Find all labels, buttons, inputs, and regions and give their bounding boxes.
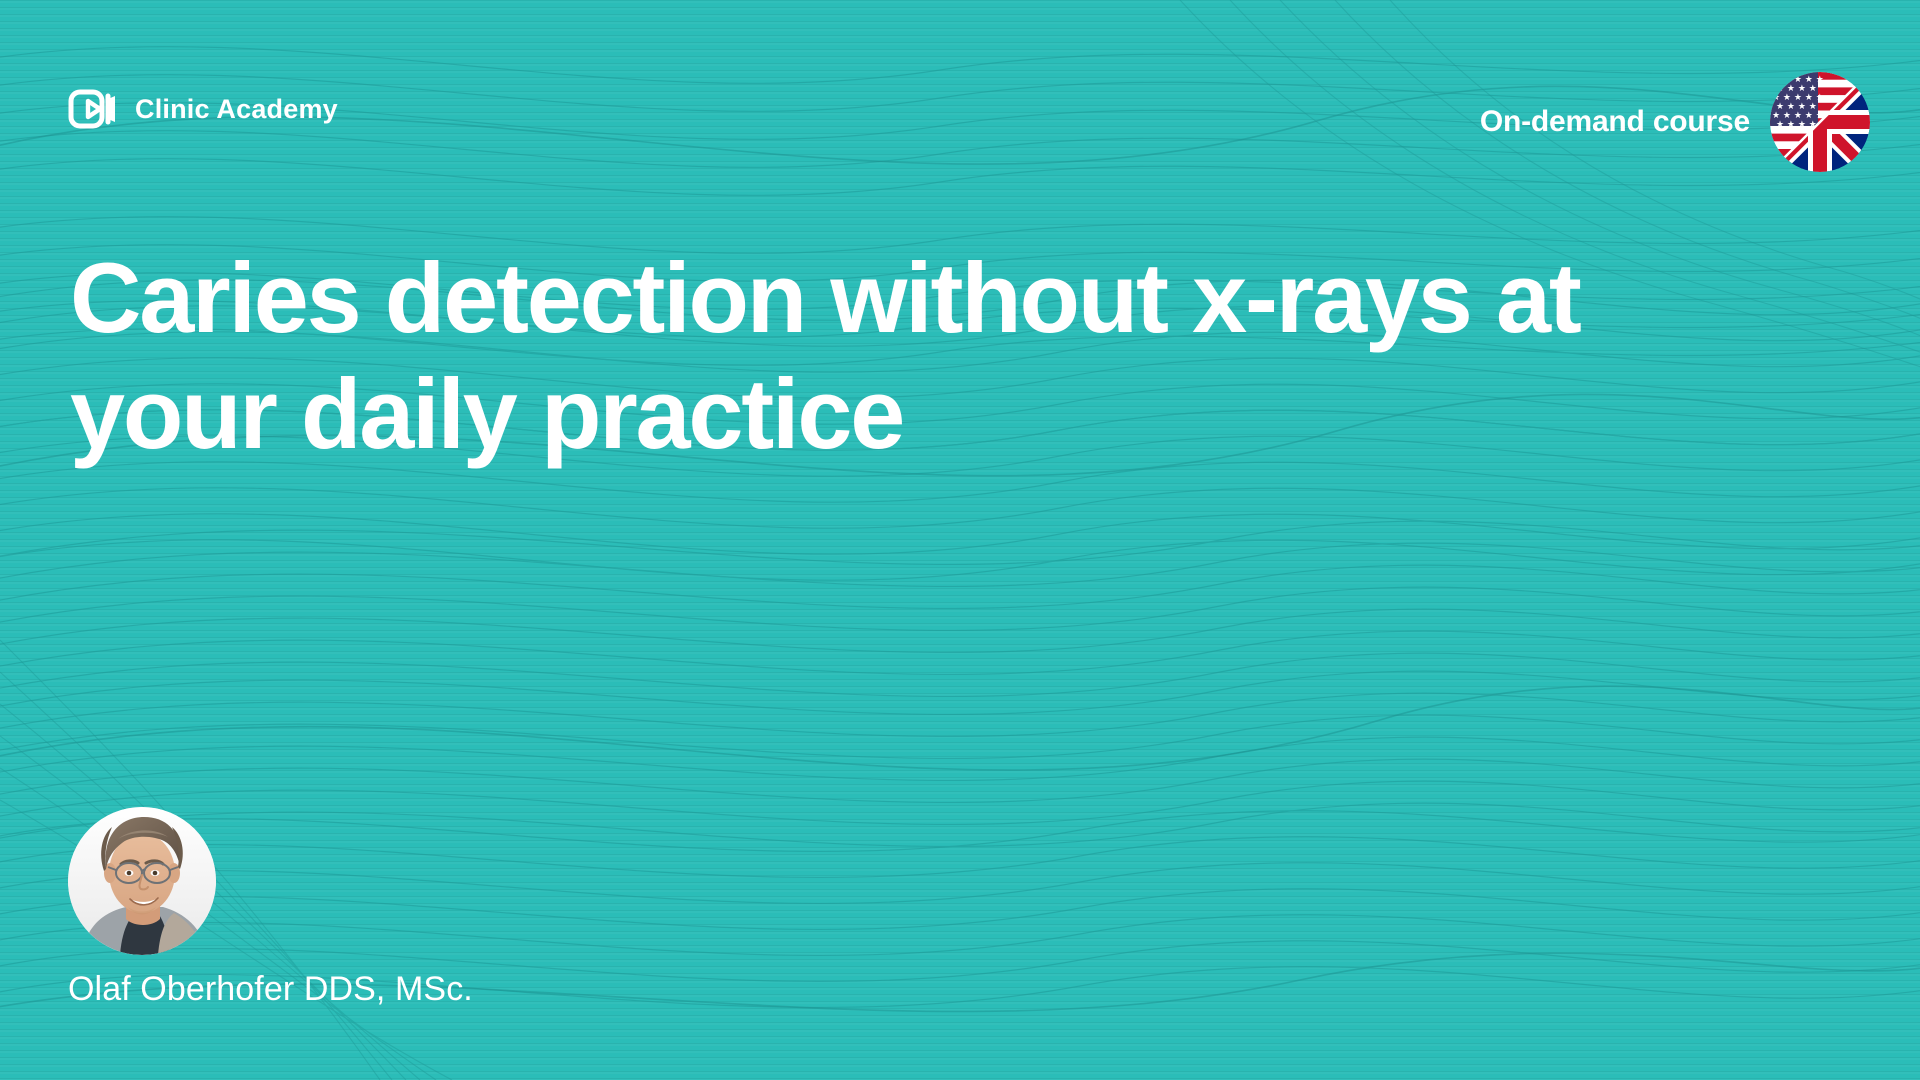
header-right-group: On-demand course [1480,72,1870,172]
brand-logo[interactable]: Clinic Academy [68,88,338,130]
brand-name-label: Clinic Academy [135,96,338,123]
us-uk-flag-badge-icon: ★ ★ ★ ★ ★ ★ ★ ★ ★ ★ ★ ★ ★ ★ ★ ★ ★ ★ ★ ★ … [1770,72,1870,172]
presenter-name-label: Olaf Oberhofer DDS, MSc. [68,971,828,1008]
course-type-label: On-demand course [1480,107,1750,137]
presenter-avatar [68,807,216,955]
svg-text:★ ★ ★ ★: ★ ★ ★ ★ [1776,120,1817,130]
video-camera-icon [68,88,118,130]
presenter-block: Olaf Oberhofer DDS, MSc. [68,807,828,1008]
course-title-slide: Clinic Academy On-demand course [0,0,1920,1080]
page-title: Caries detection without x-rays at your … [70,240,1810,472]
